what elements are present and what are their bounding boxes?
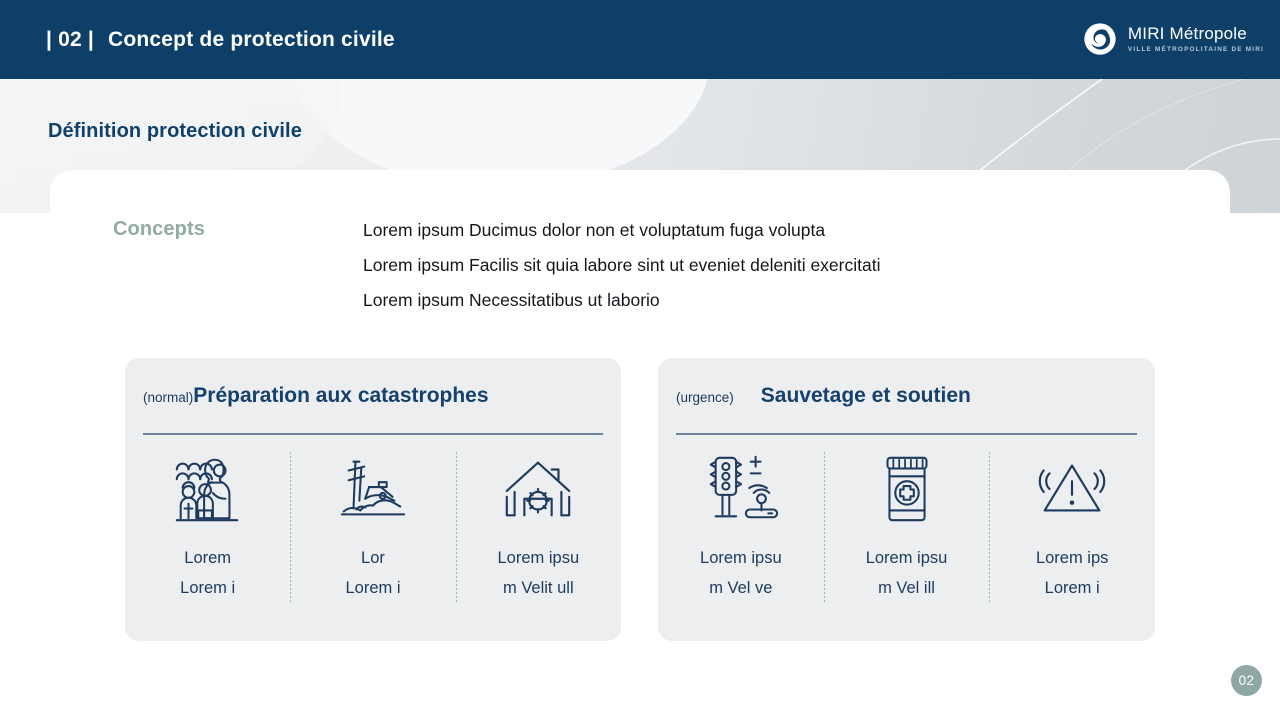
card-rescue: (urgence) Sauvetage et soutien xyxy=(658,358,1155,641)
brand-logo-text: MIRI Métropole VILLE MÉTROPOLITAINE DE M… xyxy=(1128,24,1264,55)
card-item[interactable]: Lorem ipsu m Velit ull xyxy=(456,450,621,603)
card-item-label-line1: Lor xyxy=(361,549,385,567)
concept-line: Lorem ipsum Necessitatibus ut laborio xyxy=(363,288,880,312)
card-item-label: Lorem ips Lorem i xyxy=(1036,543,1108,603)
concept-line: Lorem ipsum Facilis sit quia labore sint… xyxy=(363,253,880,277)
house-gear-icon xyxy=(499,450,577,528)
card-item[interactable]: Lorem ipsu m Vel ill xyxy=(824,450,990,603)
card-header: (normal) Préparation aux catastrophes xyxy=(143,385,489,407)
card-item-label-line2: Lorem i xyxy=(1045,579,1100,597)
card-item-label-line2: Lorem i xyxy=(345,579,400,597)
card-divider xyxy=(143,433,603,435)
card-item-label-line1: Lorem ipsu xyxy=(498,549,580,567)
traffic-light-signal-icon xyxy=(702,450,780,528)
top-header-bar: | 02 | Concept de protection civile MIRI… xyxy=(0,0,1280,79)
brand-name: MIRI Métropole xyxy=(1128,24,1264,44)
disaster-house-icon xyxy=(334,450,412,528)
card-item-label-line2: m Vel ill xyxy=(878,579,935,597)
card-item-label-line2: m Vel ve xyxy=(709,579,772,597)
card-item-grid: Lorem ipsu m Vel ve Lorem ips xyxy=(658,450,1155,603)
card-item-label-line1: Lorem ipsu xyxy=(866,549,948,567)
slide-root: | 02 | Concept de protection civile MIRI… xyxy=(0,0,1280,720)
card-item-label-line1: Lorem ipsu xyxy=(700,549,782,567)
card-tag: (urgence) xyxy=(676,390,734,406)
brand-subtitle: VILLE MÉTROPOLITAINE DE MIRI xyxy=(1128,44,1264,55)
card-header: (urgence) Sauvetage et soutien xyxy=(676,385,971,407)
card-item-label-line1: Lorem ips xyxy=(1036,549,1108,567)
medicine-jar-icon xyxy=(868,450,946,528)
card-item[interactable]: Lorem Lorem i xyxy=(125,450,290,603)
card-title: Sauvetage et soutien xyxy=(761,385,971,407)
card-tag: (normal) xyxy=(143,390,193,406)
card-item-label: Lor Lorem i xyxy=(345,543,400,603)
card-item[interactable]: Lor Lorem i xyxy=(290,450,455,603)
card-title: Préparation aux catastrophes xyxy=(193,385,488,407)
card-item[interactable]: Lorem ips Lorem i xyxy=(989,450,1155,603)
alert-triangle-icon xyxy=(1033,450,1111,528)
card-divider xyxy=(676,433,1137,435)
section-number: | 02 | xyxy=(46,28,94,52)
card-item-label: Lorem Lorem i xyxy=(180,543,235,603)
concepts-label: Concepts xyxy=(113,218,205,241)
card-preparation: (normal) Préparation aux catastrophes xyxy=(125,358,621,641)
card-item-label: Lorem ipsu m Velit ull xyxy=(498,543,580,603)
swirl-logo-icon xyxy=(1081,20,1119,58)
card-item-label-line2: m Velit ull xyxy=(503,579,574,597)
card-item-grid: Lorem Lorem i xyxy=(125,450,621,603)
brand-logo: MIRI Métropole VILLE MÉTROPOLITAINE DE M… xyxy=(1081,20,1264,58)
card-item-label: Lorem ipsu m Vel ve xyxy=(700,543,782,603)
page-number-badge: 02 xyxy=(1231,665,1262,696)
concept-line: Lorem ipsum Ducimus dolor non et volupta… xyxy=(363,218,880,242)
page-title: | 02 | Concept de protection civile xyxy=(46,28,395,52)
card-item-label-line2: Lorem i xyxy=(180,579,235,597)
crowd-people-icon xyxy=(169,450,247,528)
card-item-label: Lorem ipsu m Vel ill xyxy=(866,543,948,603)
section-heading: Définition protection civile xyxy=(48,120,302,143)
card-item-label-line1: Lorem xyxy=(184,549,231,567)
section-title: Concept de protection civile xyxy=(108,28,395,52)
concepts-list: Lorem ipsum Ducimus dolor non et volupta… xyxy=(363,218,880,312)
card-item[interactable]: Lorem ipsu m Vel ve xyxy=(658,450,824,603)
